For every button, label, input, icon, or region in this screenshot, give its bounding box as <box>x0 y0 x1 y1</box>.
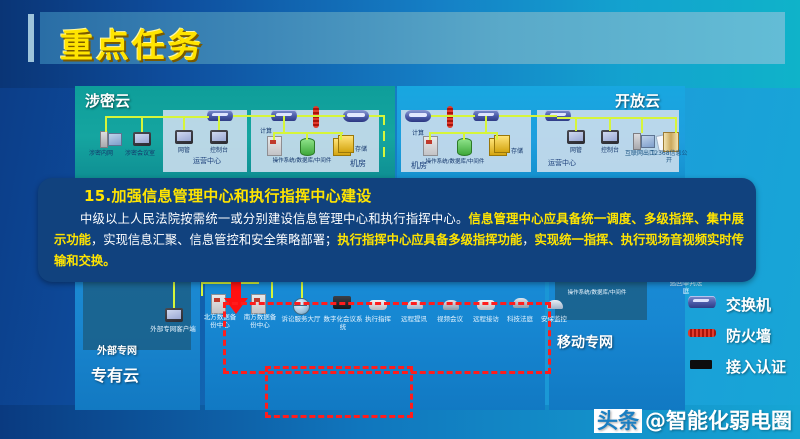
label-secret-room: 机房 <box>343 160 373 167</box>
open-router-icon <box>405 110 431 122</box>
label-mobile-middleware: 操作系统/数据库/中间件 <box>559 290 635 298</box>
label-secret-console: 控制台 <box>201 147 237 154</box>
label-open-12368: 12368信息公开 <box>649 150 689 164</box>
zone-label-mobile-net: 移动专网 <box>557 332 613 352</box>
legend-item-access-auth: 接入认证 <box>686 354 798 385</box>
label-private-client: 外部专网客户端 <box>149 326 197 334</box>
wire-secret-k <box>283 116 285 132</box>
wire-intercloud-b <box>383 115 385 125</box>
open-firewall-icon <box>447 106 453 128</box>
highlight-exec-command <box>265 366 413 418</box>
wire-open-g <box>499 115 557 117</box>
label-open-storage: 存储 <box>503 148 531 155</box>
wire-secret-a <box>105 116 107 132</box>
zone-label-open-cloud: 开放云 <box>615 90 660 111</box>
host-secret-intranet-icon <box>100 130 120 147</box>
callout-segment-0: 中级以上人民法院按需统一或分别建设信息管理中心和执行指挥中心。 <box>80 212 469 226</box>
callout-body: 中级以上人民法院按需统一或分别建设信息管理中心和执行指挥中心。信息管理中心应具备… <box>54 209 744 272</box>
label-secret-netmgmt: 网管 <box>169 147 199 154</box>
wire-secret-c <box>183 116 185 130</box>
wire-open-j <box>609 117 611 131</box>
label-open-compute: 计算 <box>405 130 431 137</box>
wire-open-c <box>429 132 431 140</box>
highlight-management-center <box>223 302 551 374</box>
label-secret-meeting: 涉密会议室 <box>119 150 161 157</box>
page-title: 重点任务 <box>60 19 204 67</box>
secret-router-icon <box>343 110 369 122</box>
label-secret-middleware: 操作系统/数据库/中间件 <box>267 158 337 165</box>
legend-item-switch-label: 交换机 <box>726 294 771 315</box>
private-client-icon <box>165 308 183 322</box>
legend-item-access-auth-label: 接入认证 <box>726 356 786 377</box>
watermark: 头条@智能化弱电圈 <box>594 405 792 435</box>
wire-secret-h <box>273 132 275 140</box>
wire-intercloud-a <box>369 115 383 117</box>
watermark-brand: 头条 <box>594 409 642 433</box>
label-open-room: 机房 <box>405 162 433 169</box>
open-book-icon <box>663 132 679 152</box>
slide-root: 重点任务 涉密云 涉密内网 涉密会议室 网管 控制台 运营中心 计算 存储 操作… <box>0 0 800 439</box>
legend-item-switch: 交换机 <box>686 292 798 323</box>
wire-secret-top <box>105 116 209 118</box>
label-secret-intranet: 涉密内网 <box>81 150 121 157</box>
label-open-netmgmt: 网管 <box>561 147 591 154</box>
open-netmgmt-icon <box>567 130 585 144</box>
secret-switch-icon <box>207 110 233 121</box>
callout-heading: 15.加强信息管理中心和执行指挥中心建设 <box>84 185 372 206</box>
legend-panel: 交换机 防火墙 接入认证 <box>686 292 798 385</box>
label-secret-opscenter: 运营中心 <box>181 158 233 165</box>
host-secret-meeting-icon <box>133 132 151 146</box>
legend-item-firewall: 防火墙 <box>686 323 798 354</box>
secret-db-icon <box>300 138 315 156</box>
label-open-opscenter: 运营中心 <box>537 160 587 167</box>
secret-firewall-icon <box>313 106 319 128</box>
secret-console-icon <box>210 130 228 144</box>
wire-open-e <box>496 132 498 140</box>
wire-open-a <box>431 115 475 117</box>
legend-item-firewall-label: 防火墙 <box>726 325 771 346</box>
open-compute-icon <box>423 136 438 156</box>
zone-label-external-net: 外部专网 <box>97 342 137 357</box>
wire-open-i <box>575 117 577 131</box>
wire-secret-b <box>141 116 143 132</box>
secret-netmgmt-icon <box>175 130 193 144</box>
zone-label-private-cloud: 专有云 <box>91 362 139 386</box>
zone-label-secret-cloud: 涉密云 <box>85 90 130 111</box>
title-bar: 重点任务 <box>40 12 785 64</box>
open-console-icon <box>601 130 619 144</box>
wire-secret-j <box>340 132 342 140</box>
wire-open-d <box>463 132 465 140</box>
label-open-console: 控制台 <box>592 147 628 154</box>
wire-intercloud-d <box>383 147 385 157</box>
open-db-icon <box>457 138 472 156</box>
secret-compute-icon <box>267 136 282 156</box>
firewall-icon <box>688 329 716 337</box>
wire-open-f <box>485 116 487 132</box>
open-internet-exit-icon <box>633 132 653 149</box>
callout-box: 15.加强信息管理中心和执行指挥中心建设 中级以上人民法院按需统一或分别建设信息… <box>38 178 756 282</box>
wire-open-k <box>641 117 643 133</box>
callout-segment-3: 执行指挥中心应具备多级指挥功能 <box>337 233 522 247</box>
wire-secret-f <box>297 115 345 117</box>
wire-secret-d <box>218 116 220 130</box>
wire-open-l <box>675 117 677 133</box>
wire-secret-i <box>306 132 308 140</box>
access-auth-icon <box>690 360 712 369</box>
callout-segment-4: ， <box>522 233 534 247</box>
callout-segment-2: ，实现信息汇聚、信息管控和安全策略部署； <box>91 233 337 247</box>
wire-secret-g <box>273 132 343 134</box>
label-secret-storage: 存储 <box>347 146 375 153</box>
watermark-handle: @智能化弱电圈 <box>645 409 792 433</box>
wire-intercloud-c <box>383 131 385 141</box>
switch-icon <box>688 296 716 308</box>
wire-secret-e <box>233 115 275 117</box>
